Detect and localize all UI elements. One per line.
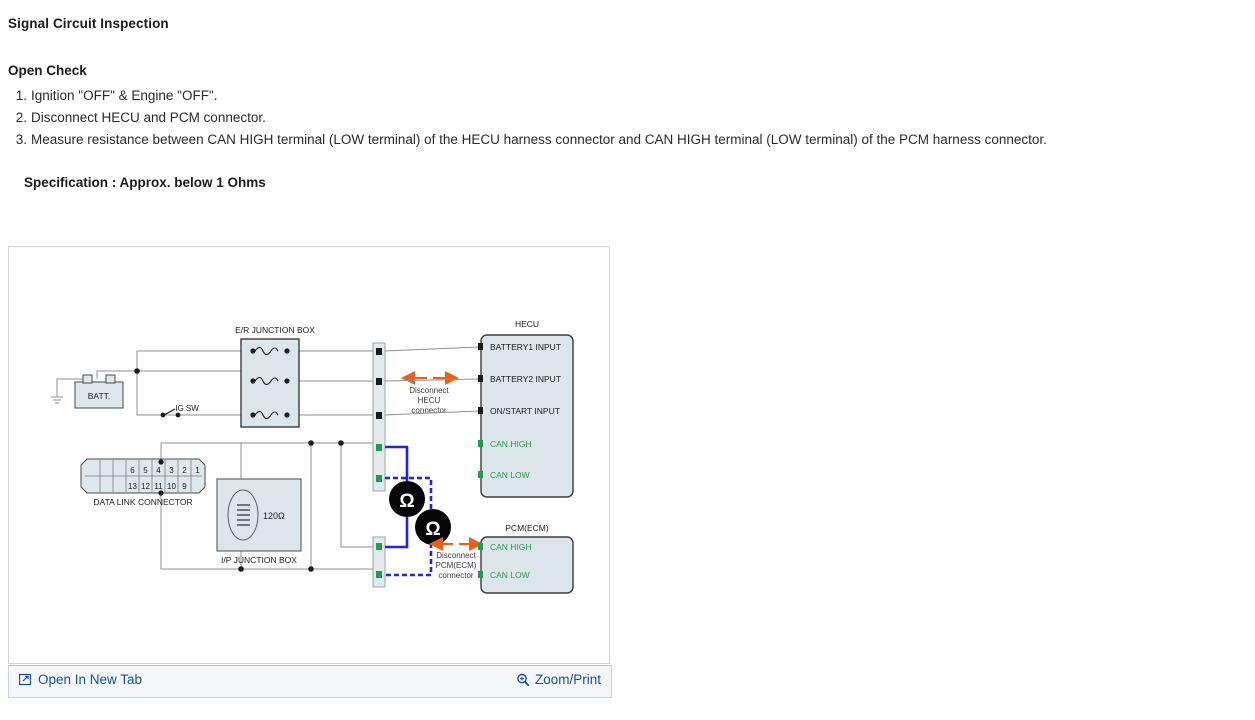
external-link-icon (19, 673, 32, 686)
ig-sw-label: IG SW (175, 404, 199, 413)
step-text: Measure resistance between CAN HIGH term… (31, 132, 1047, 147)
list-item: 1.Ignition "OFF" & Engine "OFF". (10, 85, 1240, 107)
wiring-diagram-image[interactable]: BATT. IG SW E/R JUNCTION BOX (8, 246, 610, 664)
hecu-harness-connector-strip (373, 343, 385, 491)
hecu-label: HECU (515, 319, 539, 329)
page-root: Signal Circuit Inspection Open Check 1.I… (0, 0, 1255, 720)
pcm-label: PCM(ECM) (505, 523, 549, 533)
svg-text:4: 4 (156, 466, 161, 475)
figure-viewer: BATT. IG SW E/R JUNCTION BOX (8, 246, 612, 701)
disconnect-pcm-annotation: Disconnect PCM(ECM) connector (436, 544, 477, 580)
open-in-new-tab-label: Open In New Tab (38, 672, 142, 687)
hecu-terminal-label: CAN LOW (490, 470, 530, 480)
svg-text:11: 11 (154, 482, 163, 491)
ip-junction-box-label: I/P JUNCTION BOX (221, 555, 297, 565)
svg-text:HECU: HECU (418, 396, 441, 405)
open-in-new-tab-button[interactable]: Open In New Tab (19, 672, 142, 687)
svg-text:Disconnect: Disconnect (409, 386, 449, 395)
ohm-meter-2: Ω (415, 509, 451, 545)
svg-text:13: 13 (128, 482, 137, 491)
hecu-terminal-label: BATTERY2 INPUT (490, 374, 561, 384)
hecu-module: HECU BATTERY1 INPUT BATTERY2 INPUT ON/ST… (478, 319, 573, 497)
ip-junction-box: 120Ω I/P JUNCTION BOX (217, 479, 301, 565)
er-junction-box: E/R JUNCTION BOX (235, 325, 315, 427)
resistor-value-label: 120Ω (263, 511, 285, 521)
data-link-connector: 65 43 21 1312 1110 9 DATA LINK CONNECTOR (81, 459, 205, 507)
er-junction-box-label: E/R JUNCTION BOX (235, 325, 315, 335)
page-title: Signal Circuit Inspection (8, 16, 169, 31)
zoom-print-label: Zoom/Print (535, 672, 601, 687)
svg-text:Ω: Ω (399, 491, 414, 512)
hecu-terminal-label: ON/START INPUT (490, 406, 560, 416)
step-list: 1.Ignition "OFF" & Engine "OFF". 2.Disco… (10, 85, 1240, 151)
data-link-connector-label: DATA LINK CONNECTOR (93, 497, 192, 507)
step-text: Disconnect HECU and PCM connector. (31, 110, 266, 125)
hecu-terminal-label: BATTERY1 INPUT (490, 342, 561, 352)
ohm-meter-1: Ω (389, 481, 425, 517)
disconnect-hecu-annotation: Disconnect HECU connector (409, 378, 449, 415)
svg-text:1: 1 (195, 466, 200, 475)
svg-text:12: 12 (141, 482, 150, 491)
list-item: 2.Disconnect HECU and PCM connector. (10, 107, 1240, 129)
step-number: 3. (10, 129, 27, 151)
figure-toolbar: Open In New Tab Zoom/Print (8, 665, 612, 698)
svg-text:connector: connector (438, 571, 473, 580)
battery-symbol: BATT. (75, 375, 123, 408)
step-text: Ignition "OFF" & Engine "OFF". (31, 88, 217, 103)
step-number: 2. (10, 107, 27, 129)
battery-label: BATT. (88, 391, 111, 401)
list-item: 3.Measure resistance between CAN HIGH te… (10, 129, 1240, 151)
svg-text:Ω: Ω (425, 519, 440, 540)
specification-text: Specification : Approx. below 1 Ohms (24, 175, 266, 190)
zoom-print-button[interactable]: Zoom/Print (516, 672, 601, 687)
svg-text:Disconnect: Disconnect (436, 551, 476, 560)
svg-text:3: 3 (169, 466, 174, 475)
svg-text:PCM(ECM): PCM(ECM) (436, 561, 477, 570)
magnifier-plus-icon (516, 673, 530, 687)
svg-text:6: 6 (130, 466, 135, 475)
pcm-harness-connector-strip (373, 537, 385, 587)
svg-text:2: 2 (182, 466, 187, 475)
step-number: 1. (10, 85, 27, 107)
section-heading: Open Check (8, 63, 87, 78)
pcm-module: PCM(ECM) CAN HIGH CAN LOW (478, 523, 573, 593)
pcm-terminal-label: CAN HIGH (490, 542, 532, 552)
pcm-terminal-label: CAN LOW (490, 570, 530, 580)
svg-text:5: 5 (143, 466, 148, 475)
svg-text:9: 9 (182, 482, 187, 491)
hecu-terminal-label: CAN HIGH (490, 439, 532, 449)
svg-text:10: 10 (167, 482, 176, 491)
